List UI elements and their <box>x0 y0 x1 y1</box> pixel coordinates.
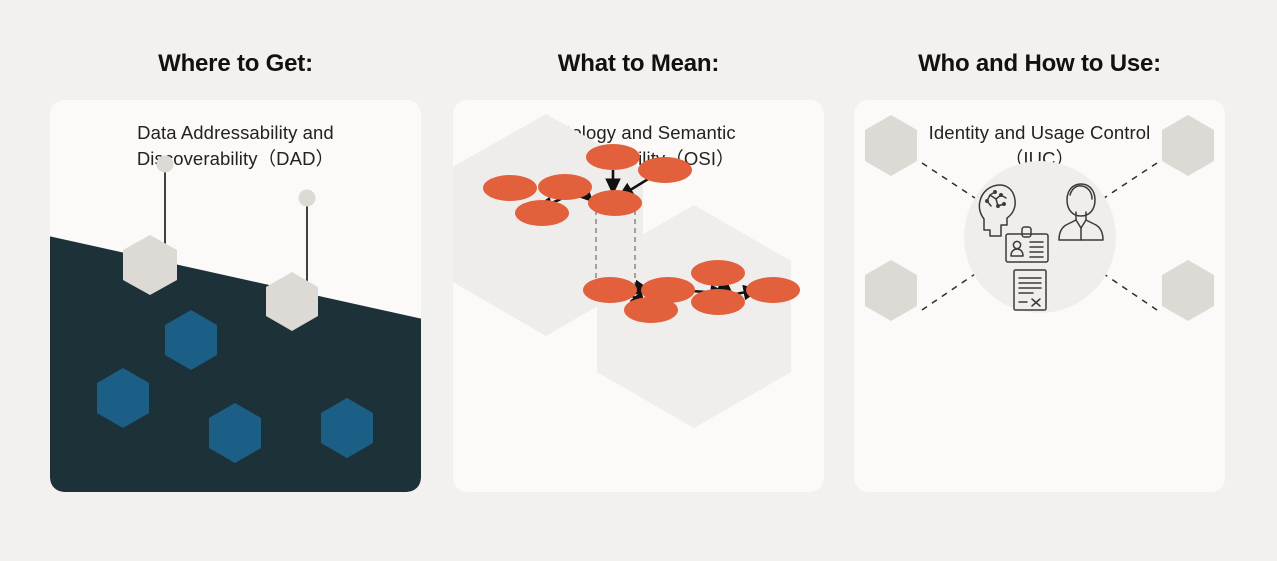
corner-hexagon-bottom-left <box>865 260 917 321</box>
identity-hub-circle <box>964 161 1116 313</box>
panel-heading-what-to-mean: What to Mean: <box>453 50 824 78</box>
ontology-node-u3 <box>586 144 640 170</box>
hub-connector-top-left <box>922 163 978 200</box>
marker-buoy-2 <box>299 190 316 207</box>
ontology-node-l3 <box>641 277 695 303</box>
ontology-node-l5 <box>691 289 745 315</box>
ontology-node-u4 <box>638 157 692 183</box>
corner-hexagon-top-left <box>865 115 917 176</box>
panel-card-what-to-mean: Ontology and Semantic Interoperability（O… <box>453 100 824 492</box>
corner-hexagon-bottom-right <box>1162 260 1214 321</box>
ontology-graph-illustration <box>453 100 824 492</box>
panel-what-to-mean: What to Mean: Ontology and Semantic Inte… <box>453 50 824 492</box>
ontology-node-u1 <box>483 175 537 201</box>
hub-connector-bottom-right <box>1101 272 1157 310</box>
panel-where-to-get: Where to Get: Data Addressability and Di… <box>50 50 421 492</box>
corner-hexagon-top-right <box>1162 115 1214 176</box>
ontology-node-l6 <box>746 277 800 303</box>
marker-buoy-1 <box>157 156 174 173</box>
infographic-board: Where to Get: Data Addressability and Di… <box>0 0 1277 561</box>
hub-connector-top-right <box>1101 163 1157 200</box>
ontology-node-u6 <box>588 190 642 216</box>
panel-card-where-to-get: Data Addressability and Discoverability（… <box>50 100 421 492</box>
panel-card-who-and-how-to-use: Identity and Usage Control （IUC） <box>854 100 1225 492</box>
ontology-node-u2 <box>538 174 592 200</box>
identity-hub-illustration <box>854 100 1225 492</box>
ontology-node-l4 <box>691 260 745 286</box>
ontology-node-l1 <box>583 277 637 303</box>
panel-heading-who-and-how-to-use: Who and How to Use: <box>854 50 1225 78</box>
ontology-node-u5 <box>515 200 569 226</box>
panel-who-and-how-to-use: Who and How to Use: Identity and Usage C… <box>854 50 1225 492</box>
iceberg-illustration <box>50 100 421 492</box>
hub-connector-bottom-left <box>922 272 978 310</box>
panel-heading-where-to-get: Where to Get: <box>50 50 421 78</box>
